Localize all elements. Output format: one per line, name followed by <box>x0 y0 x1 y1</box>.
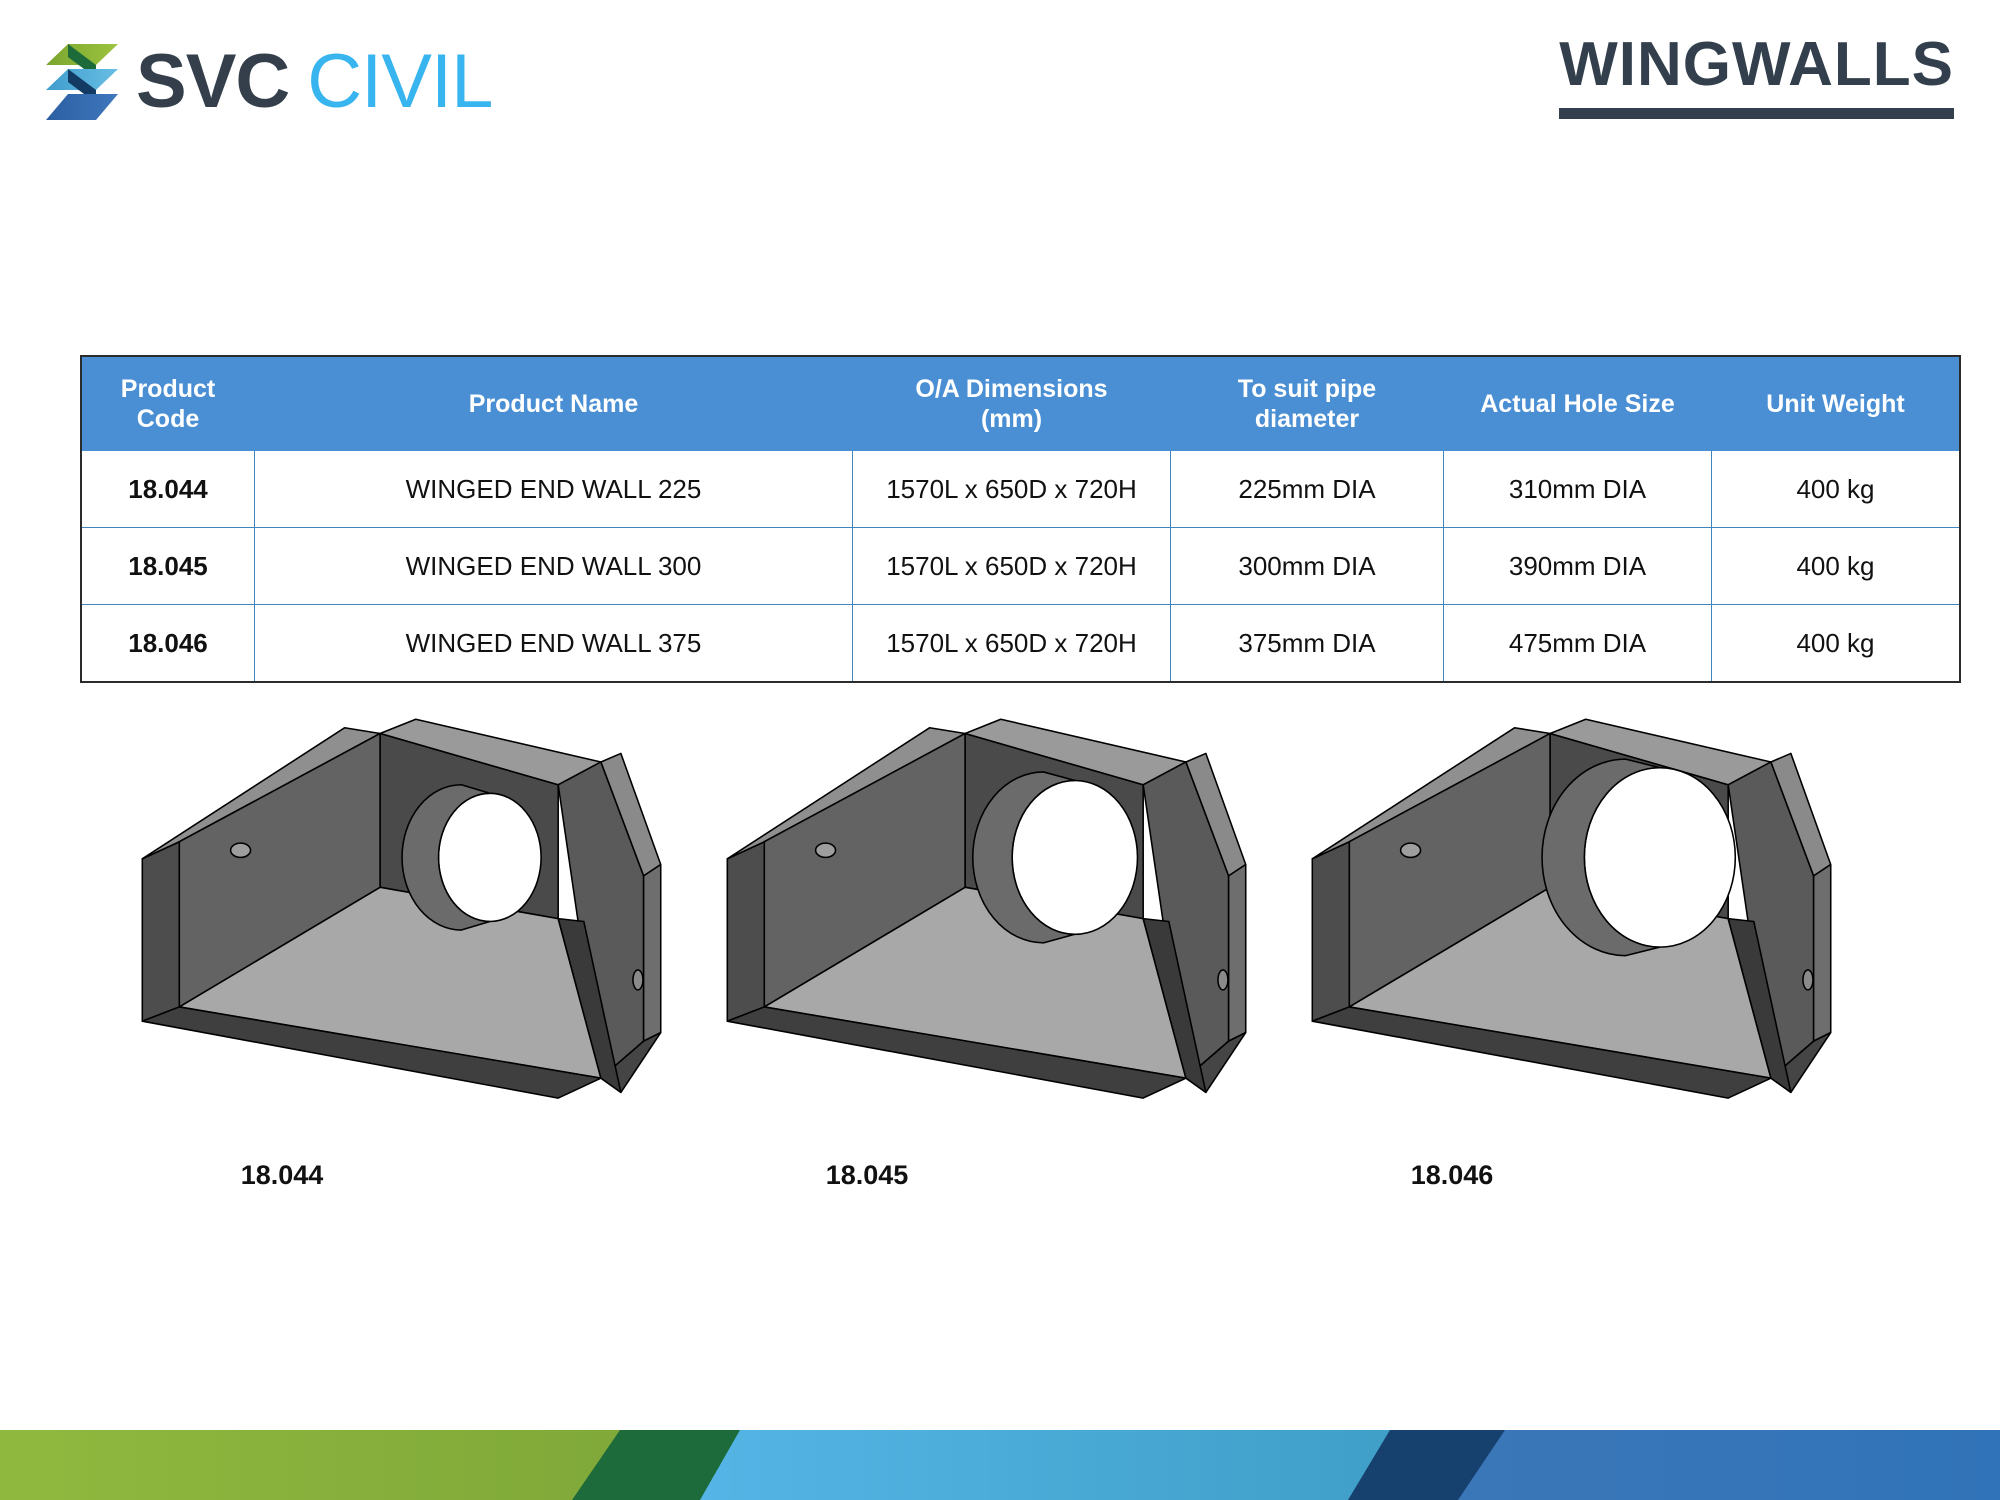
table-body: 18.044 WINGED END WALL 225 1570L x 650D … <box>81 451 1960 682</box>
column-header-product-name: Product Name <box>255 356 853 451</box>
header-line-1: To suit pipe <box>1238 375 1376 403</box>
header-line-2: (mm) <box>981 405 1042 433</box>
product-figure-row: 18.044 18.045 <box>0 705 2000 1225</box>
table-row: 18.046 WINGED END WALL 375 1570L x 650D … <box>81 605 1960 683</box>
page-title: WINGWALLS <box>1559 34 1954 96</box>
product-figure-18-046: 18.046 <box>1300 705 1900 1225</box>
cell-hole-size: 310mm DIA <box>1444 451 1712 528</box>
footer-color-band <box>0 1430 2000 1500</box>
cell-product-code: 18.045 <box>81 528 255 605</box>
product-figure-18-045: 18.045 <box>715 705 1315 1225</box>
table-row: 18.044 WINGED END WALL 225 1570L x 650D … <box>81 451 1960 528</box>
brand-wordmark: SVC CIVIL <box>136 44 492 120</box>
cell-unit-weight: 400 kg <box>1712 605 1961 683</box>
column-header-pipe-diameter: To suit pipe diameter <box>1171 356 1444 451</box>
column-header-unit-weight: Unit Weight <box>1712 356 1961 451</box>
cell-product-code: 18.044 <box>81 451 255 528</box>
winged-end-wall-3d-view-icon <box>130 705 730 1175</box>
table-header-row: Product Code Product Name O/A Dimensions… <box>81 356 1960 451</box>
figure-caption: 18.046 <box>1152 1160 1752 1191</box>
cell-unit-weight: 400 kg <box>1712 451 1961 528</box>
table-header: Product Code Product Name O/A Dimensions… <box>81 356 1960 451</box>
cell-dimensions: 1570L x 650D x 720H <box>853 451 1171 528</box>
column-header-dimensions: O/A Dimensions (mm) <box>853 356 1171 451</box>
page-title-block: WINGWALLS <box>1559 34 1954 119</box>
cell-product-code: 18.046 <box>81 605 255 683</box>
brand-name-primary: SVC <box>136 44 289 120</box>
cell-hole-size: 475mm DIA <box>1444 605 1712 683</box>
figure-caption: 18.044 <box>0 1160 582 1191</box>
cell-product-name: WINGED END WALL 300 <box>255 528 853 605</box>
winged-end-wall-3d-view-icon <box>1300 705 1900 1175</box>
product-spec-table: Product Code Product Name O/A Dimensions… <box>80 355 1961 683</box>
cell-dimensions: 1570L x 650D x 720H <box>853 528 1171 605</box>
product-figure-18-044: 18.044 <box>130 705 730 1225</box>
column-header-product-code: Product Code <box>81 356 255 451</box>
brand-name-secondary: CIVIL <box>307 44 492 120</box>
title-underline-rule <box>1559 108 1954 119</box>
svc-chevron-stack-logo-icon <box>46 38 118 126</box>
figure-caption: 18.045 <box>567 1160 1167 1191</box>
header-line-1: Product <box>121 375 215 403</box>
cell-pipe-diameter: 375mm DIA <box>1171 605 1444 683</box>
winged-end-wall-3d-view-icon <box>715 705 1315 1175</box>
header-line-2: Code <box>137 405 200 433</box>
cell-dimensions: 1570L x 650D x 720H <box>853 605 1171 683</box>
cell-pipe-diameter: 225mm DIA <box>1171 451 1444 528</box>
cell-pipe-diameter: 300mm DIA <box>1171 528 1444 605</box>
brand-logo[interactable]: SVC CIVIL <box>46 38 492 126</box>
table-row: 18.045 WINGED END WALL 300 1570L x 650D … <box>81 528 1960 605</box>
page-header: SVC CIVIL WINGWALLS <box>0 0 2000 170</box>
cell-product-name: WINGED END WALL 225 <box>255 451 853 528</box>
header-line-1: O/A Dimensions <box>915 375 1107 403</box>
cell-unit-weight: 400 kg <box>1712 528 1961 605</box>
column-header-hole-size: Actual Hole Size <box>1444 356 1712 451</box>
cell-product-name: WINGED END WALL 375 <box>255 605 853 683</box>
cell-hole-size: 390mm DIA <box>1444 528 1712 605</box>
header-line-2: diameter <box>1255 405 1359 433</box>
